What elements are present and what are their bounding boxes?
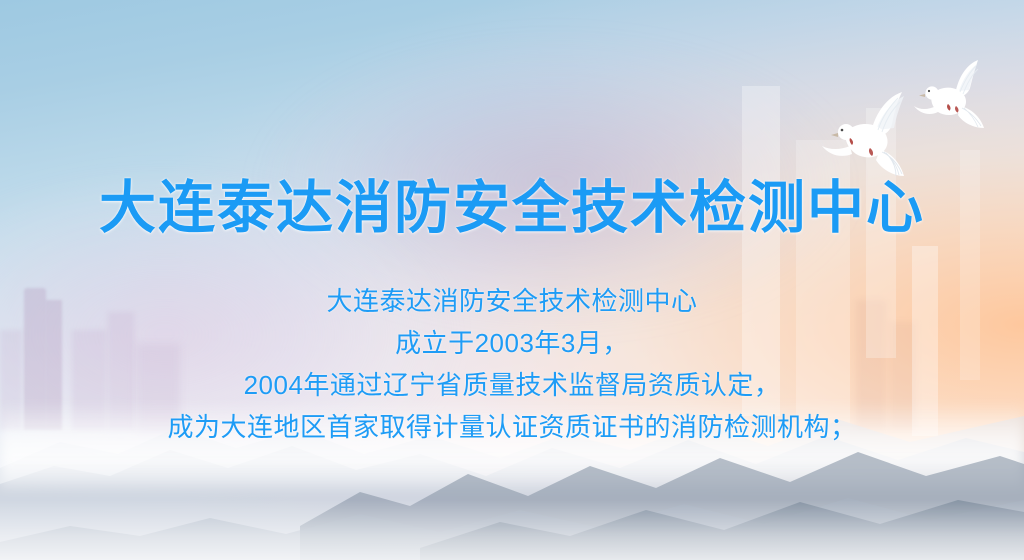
description-block: 大连泰达消防安全技术检测中心 成立于2003年3月， 2004年通过辽宁省质量技… xyxy=(0,280,1024,448)
description-line: 大连泰达消防安全技术检测中心 xyxy=(0,280,1024,322)
dove-icon xyxy=(912,60,998,138)
description-line: 成立于2003年3月， xyxy=(0,322,1024,364)
description-line: 成为大连地区首家取得计量认证资质证书的消防检测机构； xyxy=(0,406,1024,448)
page-title: 大连泰达消防安全技术检测中心 xyxy=(0,162,1024,244)
bottom-fade xyxy=(0,500,1024,560)
promotional-banner: 大连泰达消防安全技术检测中心 大连泰达消防安全技术检测中心 成立于2003年3月… xyxy=(0,0,1024,560)
description-line: 2004年通过辽宁省质量技术监督局资质认定， xyxy=(0,364,1024,406)
